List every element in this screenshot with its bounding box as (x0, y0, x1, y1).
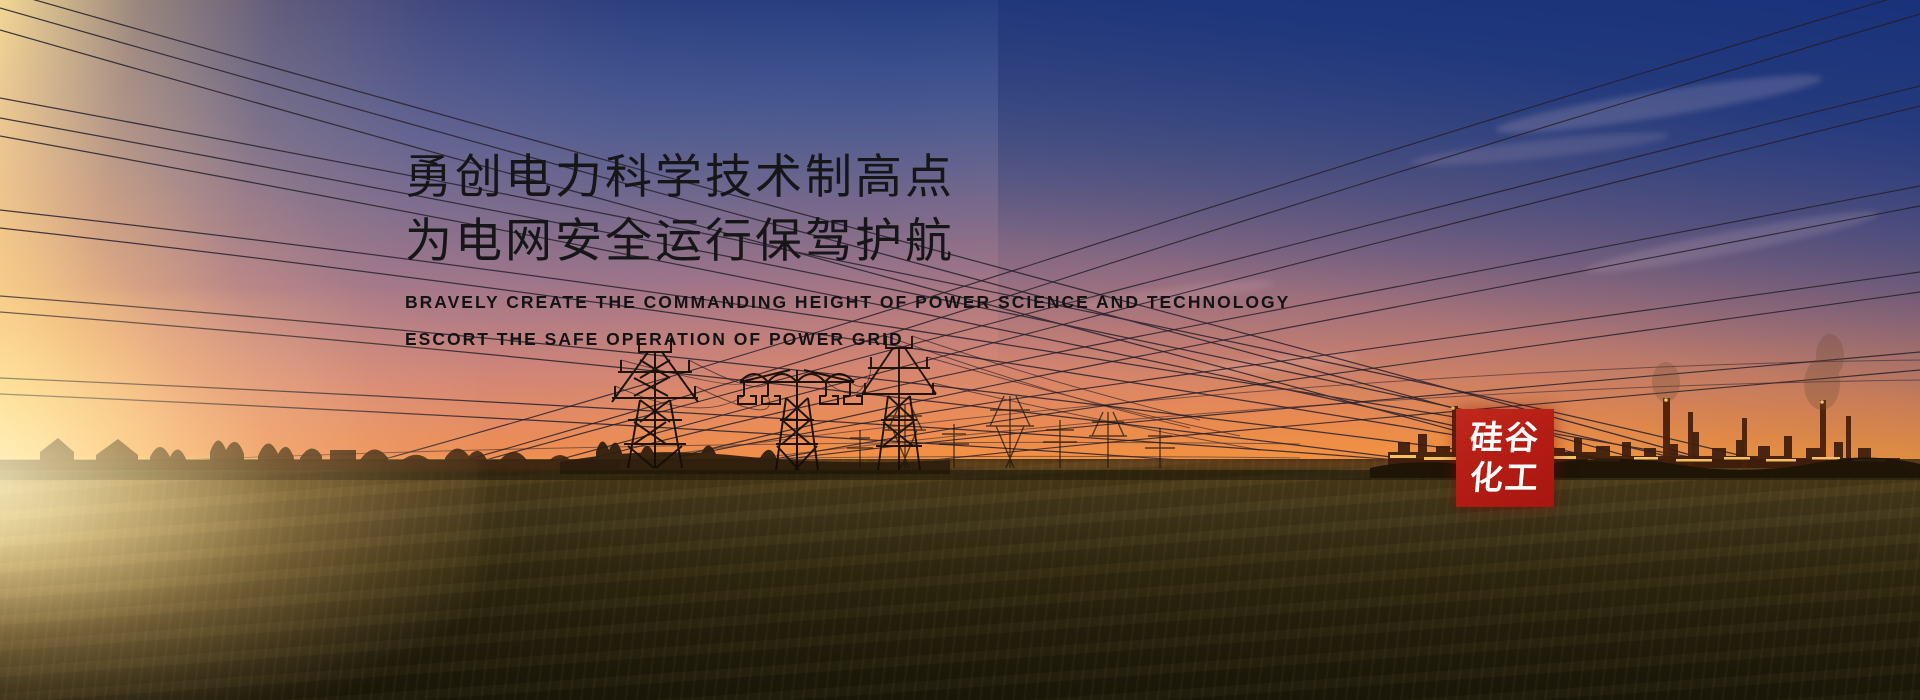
subtitle-line-1: BRAVELY CREATE THE COMMANDING HEIGHT OF … (405, 292, 1225, 313)
seal-text-line-2: 化工 (1468, 458, 1541, 498)
banner-copy: 勇创电力科学技术制高点 为电网安全运行保驾护航 BRAVELY CREATE T… (405, 146, 1225, 350)
farm-field (0, 459, 1920, 700)
hero-banner: 勇创电力科学技术制高点 为电网安全运行保驾护航 BRAVELY CREATE T… (0, 0, 1920, 700)
field-bands (0, 459, 1920, 700)
subtitle-line-2: ESCORT THE SAFE OPERATION OF POWER GRID (405, 329, 1225, 350)
company-seal-logo[interactable]: 硅谷 化工 (1456, 409, 1554, 507)
horizon-glow (0, 459, 1920, 469)
headline-line-2: 为电网安全运行保驾护航 (405, 210, 1225, 274)
headline-line-1: 勇创电力科学技术制高点 (405, 146, 1225, 210)
seal-text-line-1: 硅谷 (1468, 418, 1541, 458)
